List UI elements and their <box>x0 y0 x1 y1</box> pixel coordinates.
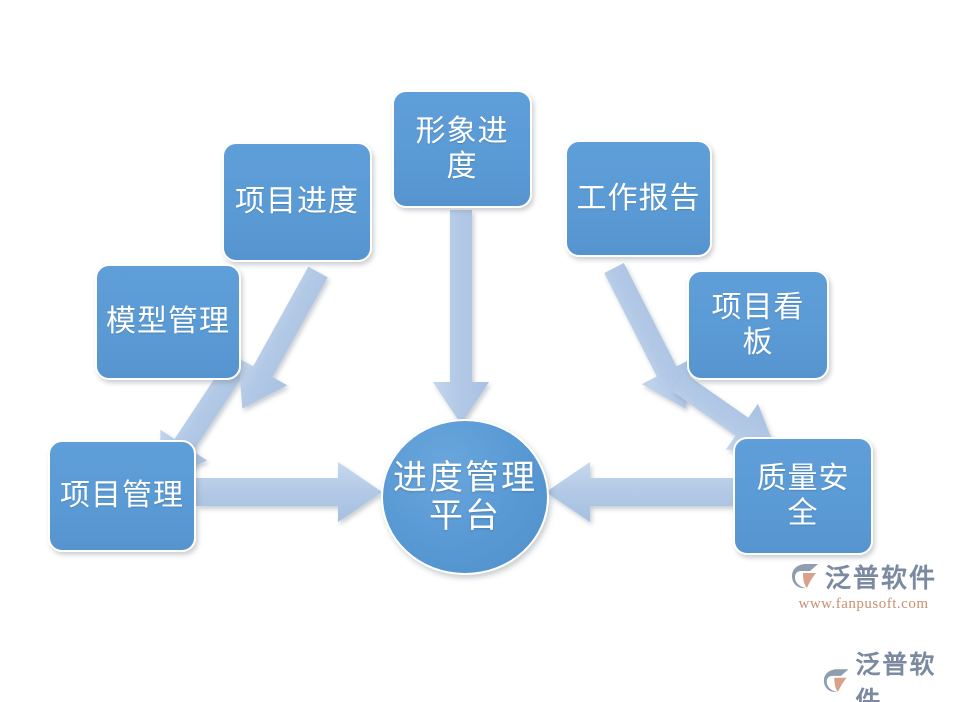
watermark-secondary: 泛普软件 www.fanpusoft.com <box>822 645 961 702</box>
arrow-quality-safety-to-hub <box>546 462 733 522</box>
diagram-canvas: 进度管理平台 形象进度 项目进度 工作报告 模型管理 项目看板 项目管理 质量安… <box>0 0 961 702</box>
node-project-progress[interactable]: 项目进度 <box>222 142 372 262</box>
hub-label: 进度管理平台 <box>383 459 547 535</box>
watermark-brand: 泛普软件 <box>825 558 937 595</box>
node-label-image-progress: 形象进度 <box>402 114 522 185</box>
node-label-work-report: 工作报告 <box>575 181 702 216</box>
watermark-url: www.fanpusoft.com <box>799 596 929 613</box>
node-label-model-management: 模型管理 <box>105 304 231 339</box>
node-work-report[interactable]: 工作报告 <box>565 140 712 257</box>
watermark-primary: 泛普软件 www.fanpusoft.com <box>790 558 937 613</box>
fanpu-logo-icon <box>822 668 850 695</box>
node-model-management[interactable]: 模型管理 <box>95 264 241 380</box>
node-label-project-board: 项目看板 <box>697 290 819 361</box>
node-label-project-progress: 项目进度 <box>232 184 362 219</box>
node-project-management[interactable]: 项目管理 <box>48 440 196 552</box>
node-quality-safety[interactable]: 质量安全 <box>733 437 873 555</box>
watermark-brand: 泛普软件 <box>855 645 961 702</box>
node-label-quality-safety: 质量安全 <box>743 461 863 532</box>
hub-node[interactable]: 进度管理平台 <box>381 419 549 575</box>
node-project-board[interactable]: 项目看板 <box>687 270 829 380</box>
arrow-image-progress-to-hub <box>433 210 489 424</box>
node-image-progress[interactable]: 形象进度 <box>392 90 532 208</box>
arrow-project-management-to-hub <box>196 462 382 522</box>
fanpu-logo-icon <box>790 563 820 591</box>
node-label-project-management: 项目管理 <box>58 478 186 513</box>
